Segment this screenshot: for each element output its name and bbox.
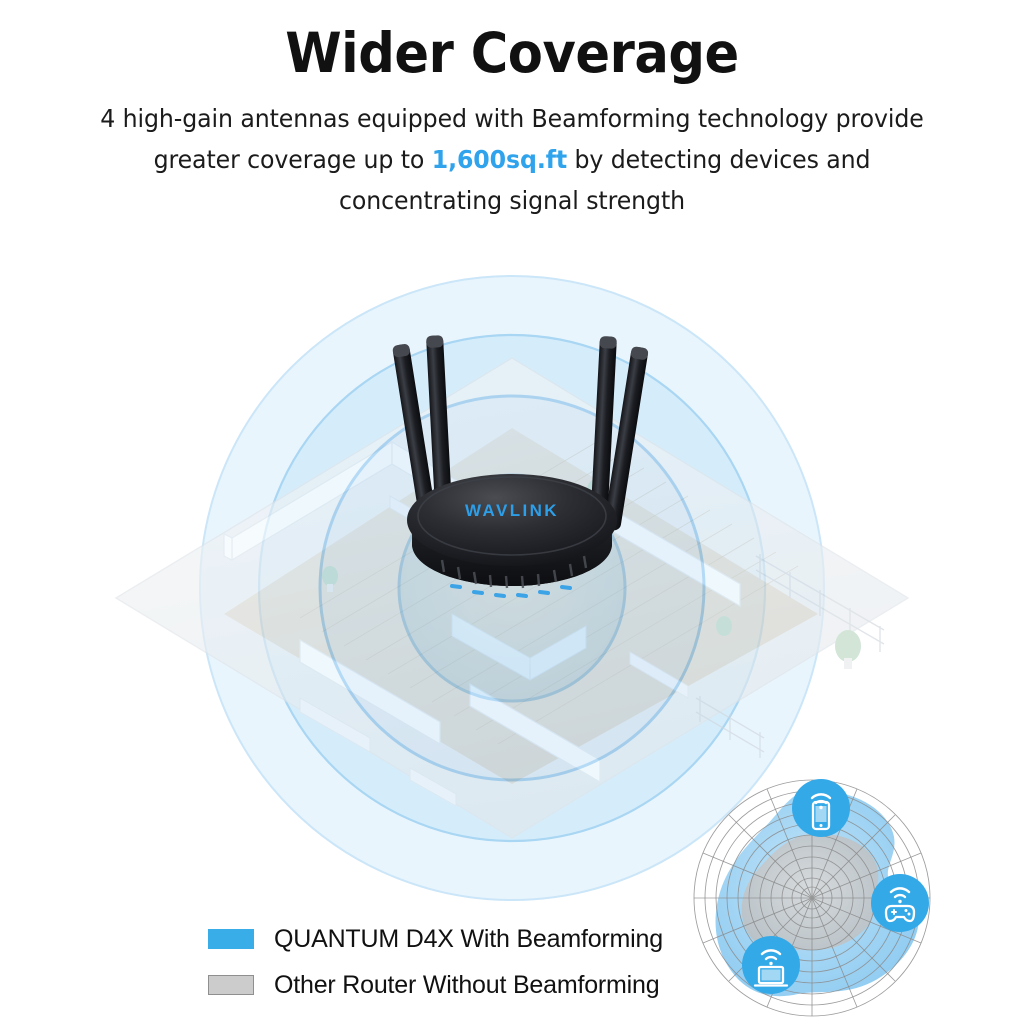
legend-swatch-gray [208, 975, 254, 995]
legend-swatch-blue [208, 929, 254, 949]
subtitle-paragraph: 4 high-gain antennas equipped with Beamf… [78, 98, 947, 221]
page-title: Wider Coverage [36, 20, 988, 86]
brand-logo: WAVLINK [465, 501, 559, 520]
legend-item-beamforming: QUANTUM D4X With Beamforming [208, 922, 768, 956]
gamepad-wifi-icon [871, 874, 929, 932]
coverage-area-highlight: 1,600sq.ft [432, 145, 567, 174]
legend: QUANTUM D4X With Beamforming Other Route… [208, 922, 768, 1014]
legend-label-beamforming: QUANTUM D4X With Beamforming [274, 925, 663, 953]
smartphone-wifi-icon [792, 779, 850, 837]
legend-item-other-router: Other Router Without Beamforming [208, 968, 768, 1002]
coverage-pattern-chart [686, 772, 938, 1024]
legend-label-other-router: Other Router Without Beamforming [274, 971, 659, 999]
marketing-panel: Wider Coverage 4 high-gain antennas equi… [0, 0, 1024, 1024]
laptop-wifi-icon [742, 936, 800, 994]
house-floorplan [116, 358, 908, 838]
router-top-shell [407, 474, 617, 566]
